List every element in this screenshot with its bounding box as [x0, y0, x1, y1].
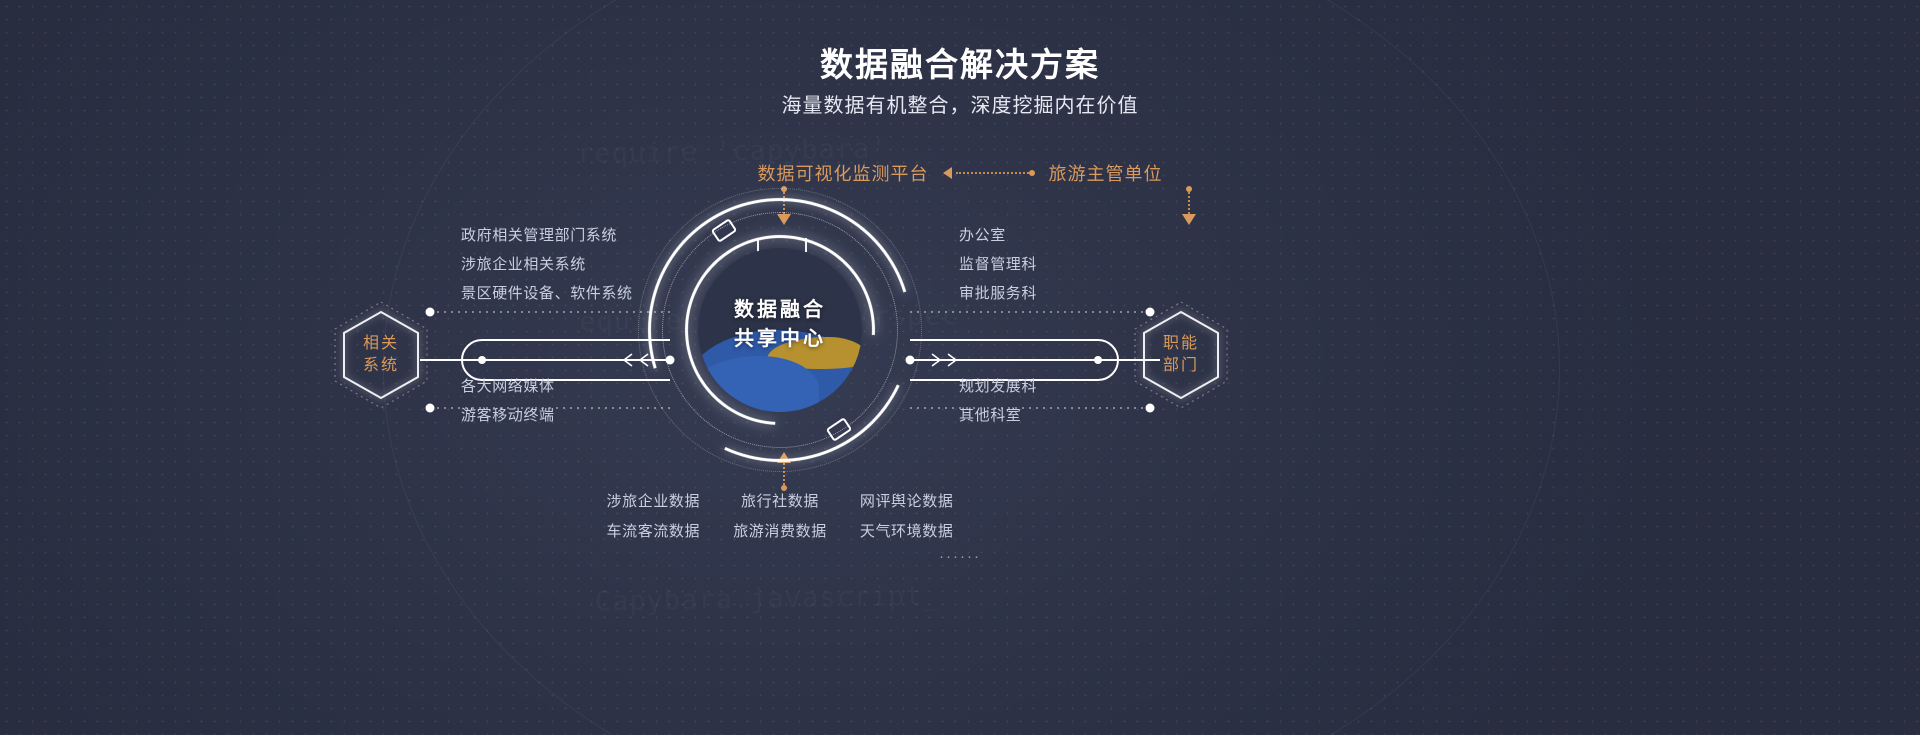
hexagon-right-line1: 职能 [1163, 333, 1199, 355]
hub-label-line1: 数据融合 [640, 296, 920, 325]
code-line: Capybara.javascript_ [594, 565, 1125, 630]
right-top-department-list: 办公室 监督管理科 审批服务科 [959, 221, 1037, 308]
bottom-ellipsis: ······ [0, 548, 1920, 565]
list-item: 政府相关管理部门系统 [461, 221, 633, 250]
list-item: 其他科室 [959, 401, 1037, 430]
page-title: 数据融合解决方案 [0, 38, 1920, 86]
page-subtitle: 海量数据有机整合，深度挖掘内在价值 [0, 89, 1920, 118]
list-item: 规划发展科 [959, 372, 1037, 401]
grid-item: 旅行社数据 [717, 490, 844, 511]
list-item: 办公室 [959, 221, 1037, 250]
list-item: 游客移动终端 [461, 401, 555, 430]
grid-item: 旅游消费数据 [717, 520, 844, 541]
label-tourism-authority: 旅游主管单位 [1049, 160, 1163, 186]
hub-label: 数据融合 共享中心 [640, 296, 920, 354]
list-item: 涉旅企业相关系统 [461, 250, 633, 279]
hub-label-line2: 共享中心 [640, 325, 920, 354]
hexagon-right-label: 职能 部门 [1133, 300, 1229, 410]
hexagon-right-line2: 部门 [1163, 355, 1199, 377]
central-hub: 数据融合 共享中心 [640, 190, 920, 470]
left-top-source-list: 政府相关管理部门系统 涉旅企业相关系统 景区硬件设备、软件系统 [461, 221, 633, 308]
hexagon-left-label: 相关 系统 [333, 300, 429, 410]
arrow-left-icon [943, 167, 952, 179]
hexagon-functional-departments[interactable]: 职能 部门 [1133, 300, 1229, 410]
triangle-down-icon [1182, 214, 1196, 225]
list-item: 各大网络媒体 [461, 372, 555, 401]
label-visualization-platform: 数据可视化监测平台 [758, 160, 929, 186]
list-item: 景区硬件设备、软件系统 [461, 279, 633, 308]
grid-item: 涉旅企业数据 [590, 490, 717, 511]
dotted-line [956, 172, 1029, 174]
hexagon-left-line1: 相关 [363, 333, 399, 355]
infographic-canvas: require 'capybara' require 'capybara/rsp… [0, 0, 1920, 735]
left-bottom-source-list: 各大网络媒体 游客移动终端 [461, 372, 555, 430]
list-item: 监督管理科 [959, 250, 1037, 279]
grid-item: 车流客流数据 [590, 520, 717, 541]
drop-connector-right-icon [1182, 186, 1196, 225]
endpoint-dot-icon [1029, 170, 1035, 176]
dotted-line [1188, 192, 1190, 214]
list-item: 审批服务科 [959, 279, 1037, 308]
dotted-arrow-connector-icon [943, 167, 1035, 179]
hexagon-left-line2: 系统 [363, 355, 399, 377]
globe-sea-front [698, 356, 819, 412]
bottom-data-grid: 涉旅企业数据 旅行社数据 网评舆论数据 车流客流数据 旅游消费数据 天气环境数据 [590, 490, 970, 541]
right-bottom-department-list: 规划发展科 其他科室 [959, 372, 1037, 430]
grid-item: 天气环境数据 [843, 520, 970, 541]
hexagon-related-systems[interactable]: 相关 系统 [333, 300, 429, 410]
top-label-row: 数据可视化监测平台 旅游主管单位 [0, 160, 1920, 186]
grid-item: 网评舆论数据 [843, 490, 970, 511]
